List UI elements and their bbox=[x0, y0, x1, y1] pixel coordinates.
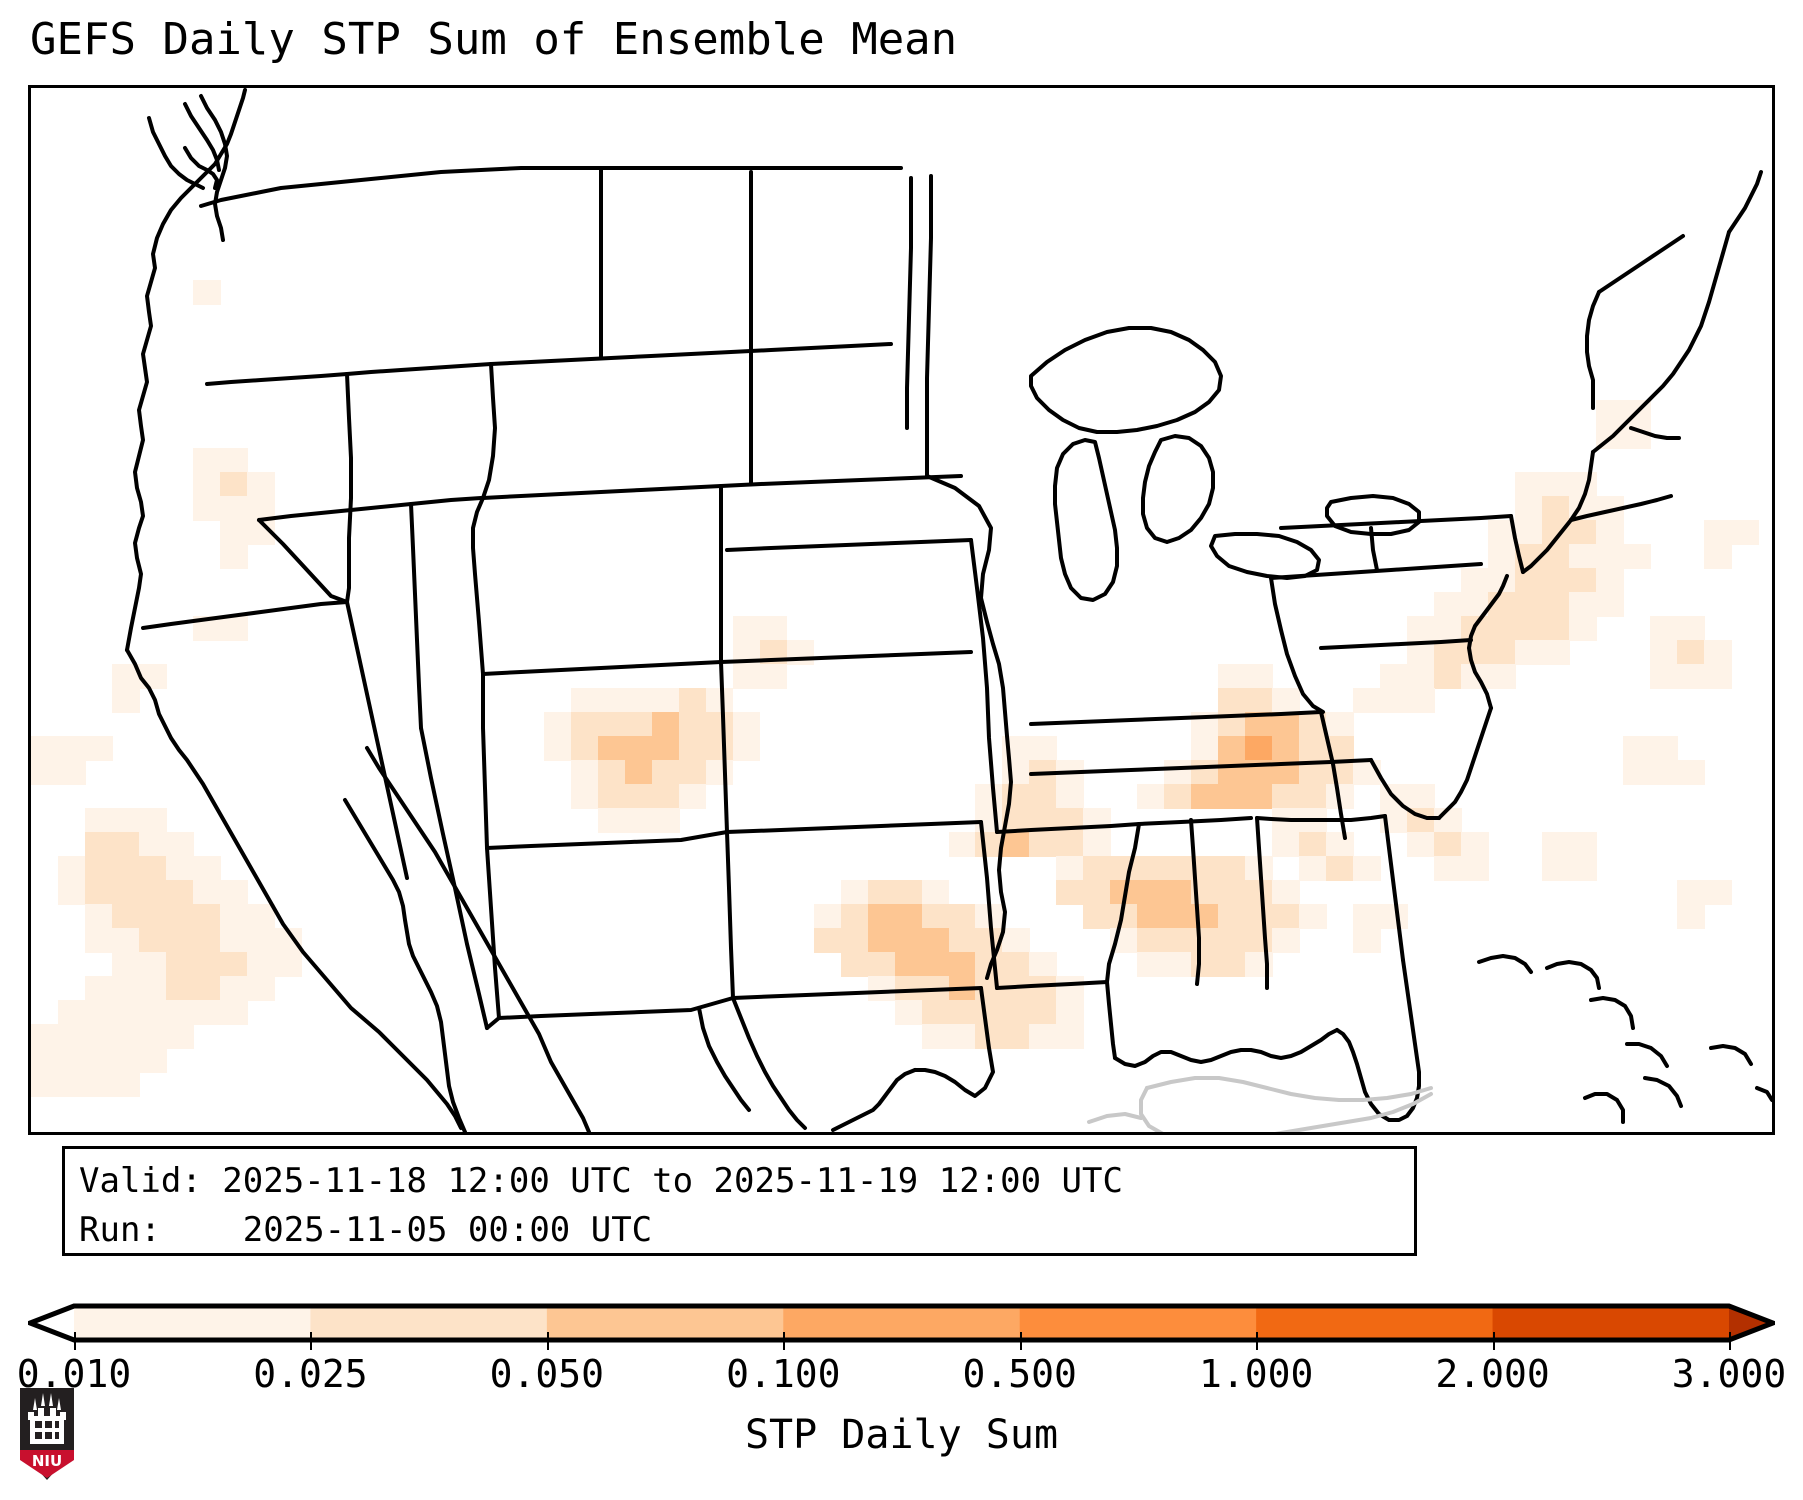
colorbar-tick bbox=[310, 1332, 312, 1350]
map-geography bbox=[31, 88, 1772, 1132]
colorbar-tick bbox=[1493, 1332, 1495, 1350]
map-frame bbox=[28, 85, 1775, 1135]
info-textbox: Valid: 2025-11-18 12:00 UTC to 2025-11-1… bbox=[62, 1146, 1417, 1256]
colorbar-ticks bbox=[28, 1332, 1775, 1352]
colorbar-tick-label: 1.000 bbox=[1199, 1352, 1313, 1396]
colorbar-tick bbox=[1020, 1332, 1022, 1350]
colorbar-tick bbox=[547, 1332, 549, 1350]
colorbar-tick-labels: 0.0100.0250.0500.1000.5001.0002.0003.000 bbox=[0, 1352, 1803, 1402]
colorbar-tick-label: 3.000 bbox=[1672, 1352, 1786, 1396]
colorbar-tick-label: 0.050 bbox=[490, 1352, 604, 1396]
colorbar-tick-label: 2.000 bbox=[1435, 1352, 1549, 1396]
colorbar-tick bbox=[74, 1332, 76, 1350]
niu-logo-text: NIU bbox=[32, 1452, 62, 1470]
valid-time-line: Valid: 2025-11-18 12:00 UTC to 2025-11-1… bbox=[79, 1157, 1400, 1206]
colorbar-tick bbox=[783, 1332, 785, 1350]
colorbar-tick-label: 0.025 bbox=[253, 1352, 367, 1396]
run-time-line: Run: 2025-11-05 00:00 UTC bbox=[79, 1206, 1400, 1255]
colorbar-tick bbox=[1256, 1332, 1258, 1350]
colorbar-tick-label: 0.500 bbox=[963, 1352, 1077, 1396]
colorbar-axis-label: STP Daily Sum bbox=[0, 1412, 1803, 1458]
colorbar-tick bbox=[1729, 1332, 1731, 1350]
niu-logo: NIU bbox=[16, 1384, 78, 1484]
colorbar-tick-label: 0.100 bbox=[726, 1352, 840, 1396]
page-title: GEFS Daily STP Sum of Ensemble Mean bbox=[30, 14, 957, 65]
